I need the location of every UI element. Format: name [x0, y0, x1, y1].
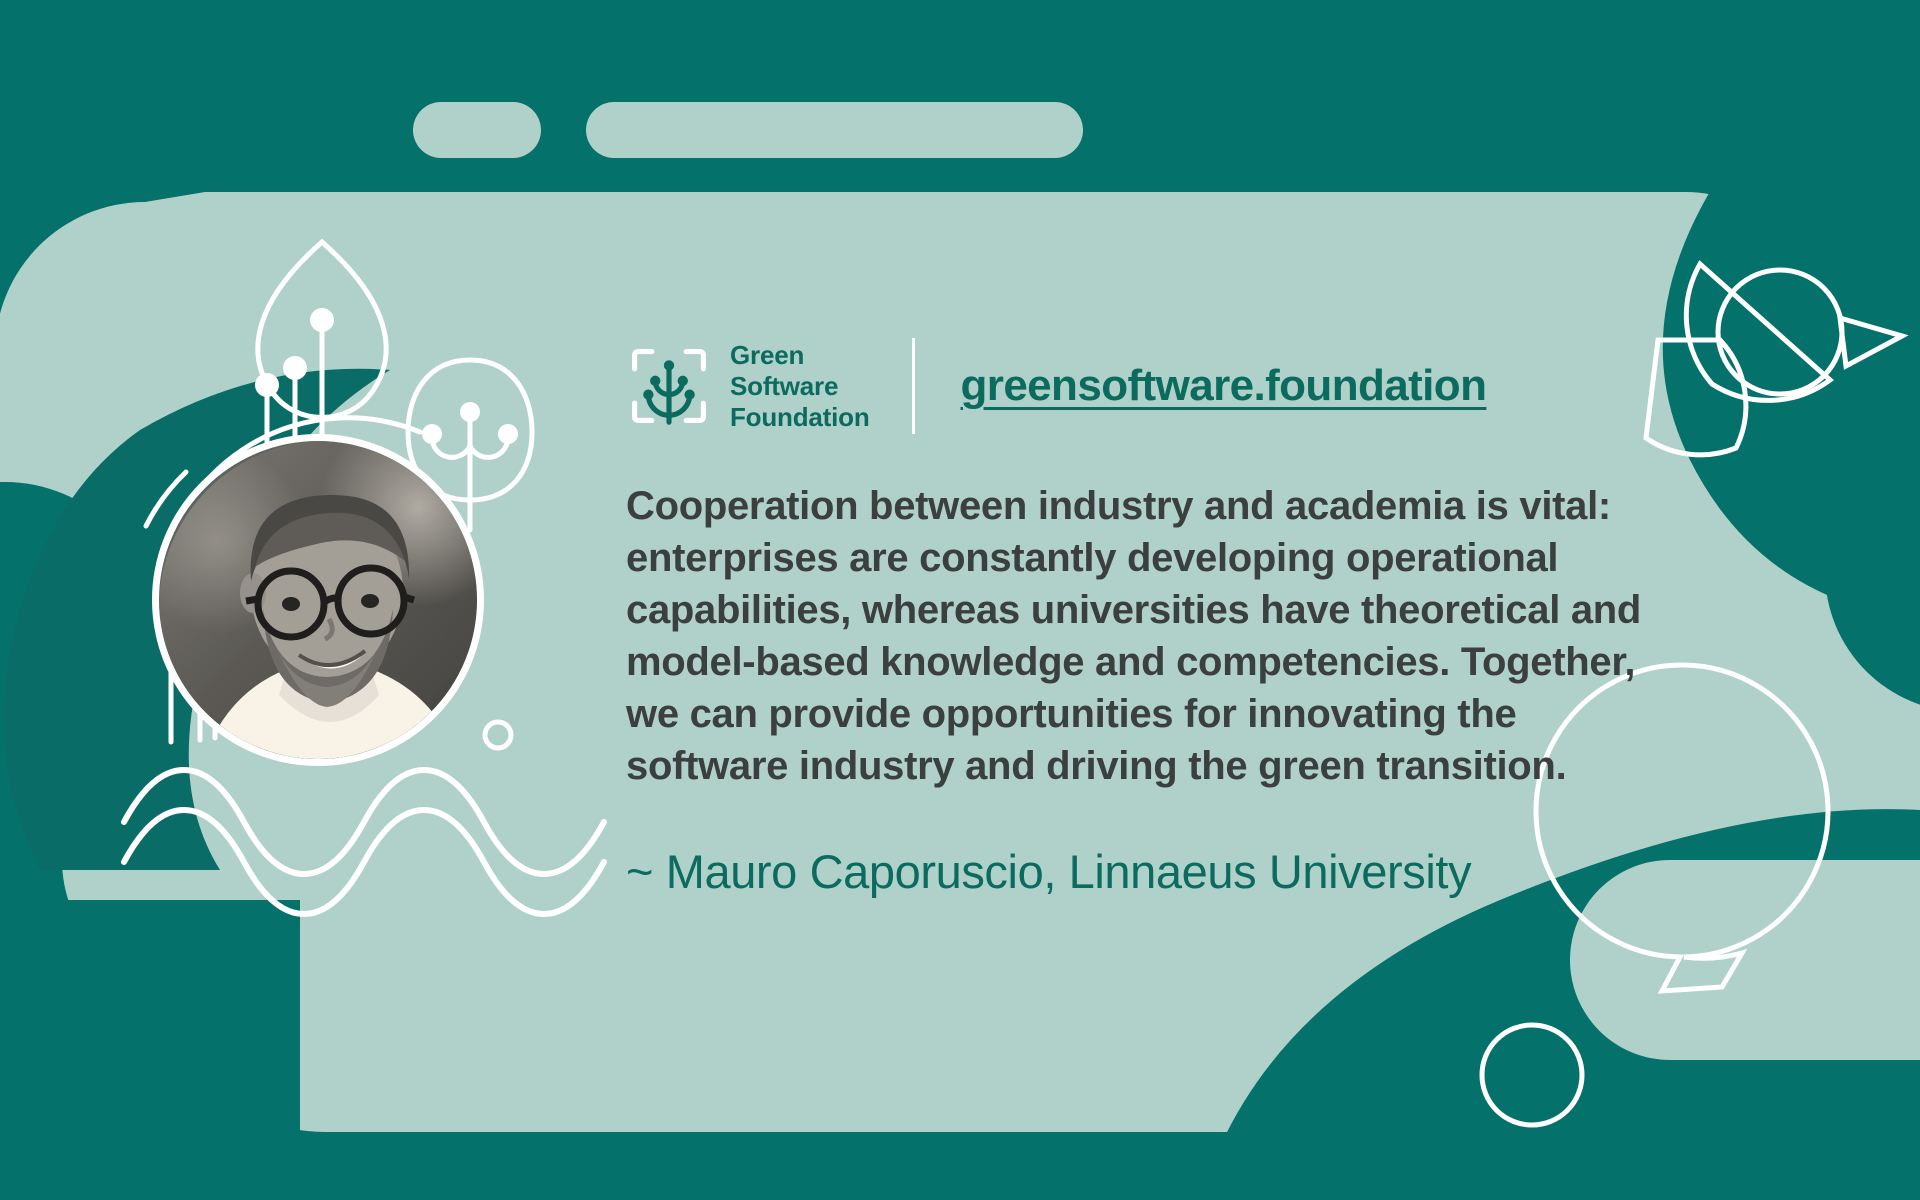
website-url-link[interactable]: greensoftware.foundation: [961, 361, 1487, 411]
brand-divider: [912, 338, 915, 434]
quote-attribution: ~ Mauro Caporuscio, Linnaeus University: [626, 844, 1716, 900]
quote-line: enterprises are constantly developing op…: [626, 532, 1716, 584]
wave-lines-icon: [124, 770, 604, 914]
brand-name-line-3: Foundation: [730, 402, 870, 433]
brand-name-line-2: Software: [730, 371, 870, 402]
quote-line: we can provide opportunities for innovat…: [626, 688, 1716, 740]
quote-card: Green Software Foundation greensoftware.…: [0, 0, 1920, 1200]
small-circle-icon: [485, 722, 511, 748]
brand-row: Green Software Foundation greensoftware.…: [626, 330, 1716, 442]
avatar-photo: [159, 441, 477, 759]
quote-text: Cooperation between industry and academi…: [626, 480, 1716, 792]
content-column: Green Software Foundation greensoftware.…: [626, 330, 1716, 900]
quote-line: software industry and driving the green …: [626, 740, 1716, 792]
brand-name-line-1: Green: [730, 340, 870, 371]
avatar: [152, 434, 484, 766]
quote-line: capabilities, whereas universities have …: [626, 584, 1716, 636]
quote-line: Cooperation between industry and academi…: [626, 480, 1716, 532]
brand-name: Green Software Foundation: [730, 340, 870, 433]
green-software-foundation-logo-icon: [626, 343, 712, 429]
quote-line: model-based knowledge and competencies. …: [626, 636, 1716, 688]
bubble-small-circle-icon: [1482, 1025, 1582, 1125]
